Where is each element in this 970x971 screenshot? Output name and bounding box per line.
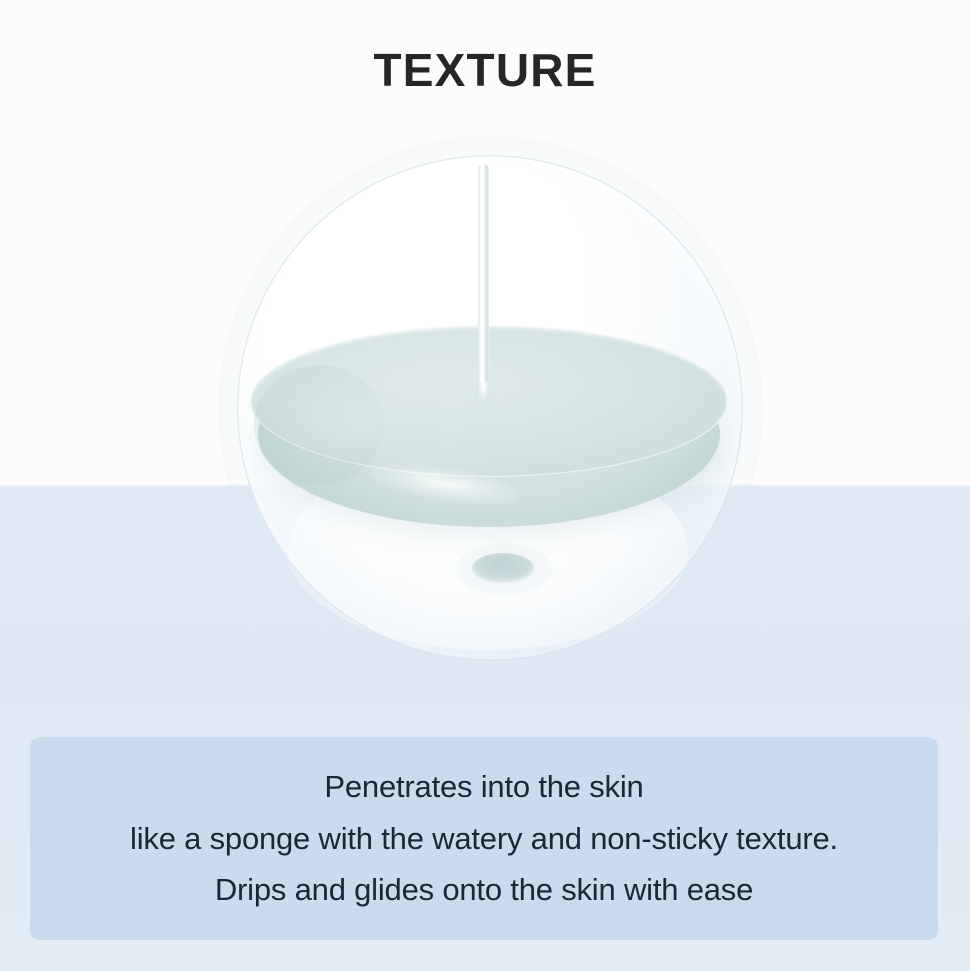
page-title: TEXTURE	[0, 45, 970, 96]
texture-poster: TEXTURE Penetrates into the skin like a …	[0, 0, 970, 971]
liquid-left-shading	[254, 365, 384, 485]
liquid-stream-tip	[476, 382, 491, 406]
texture-illustration	[230, 150, 745, 675]
liquid-droplet-puddle	[250, 325, 728, 533]
caption-line-1: Penetrates into the skin	[324, 761, 643, 812]
caption-panel: Penetrates into the skin like a sponge w…	[30, 737, 938, 940]
caption-line-2: like a sponge with the watery and non-st…	[130, 813, 838, 864]
liquid-stream	[478, 164, 489, 399]
liquid-impact-dimple	[472, 553, 534, 583]
caption-line-3: Drips and glides onto the skin with ease	[215, 864, 753, 915]
